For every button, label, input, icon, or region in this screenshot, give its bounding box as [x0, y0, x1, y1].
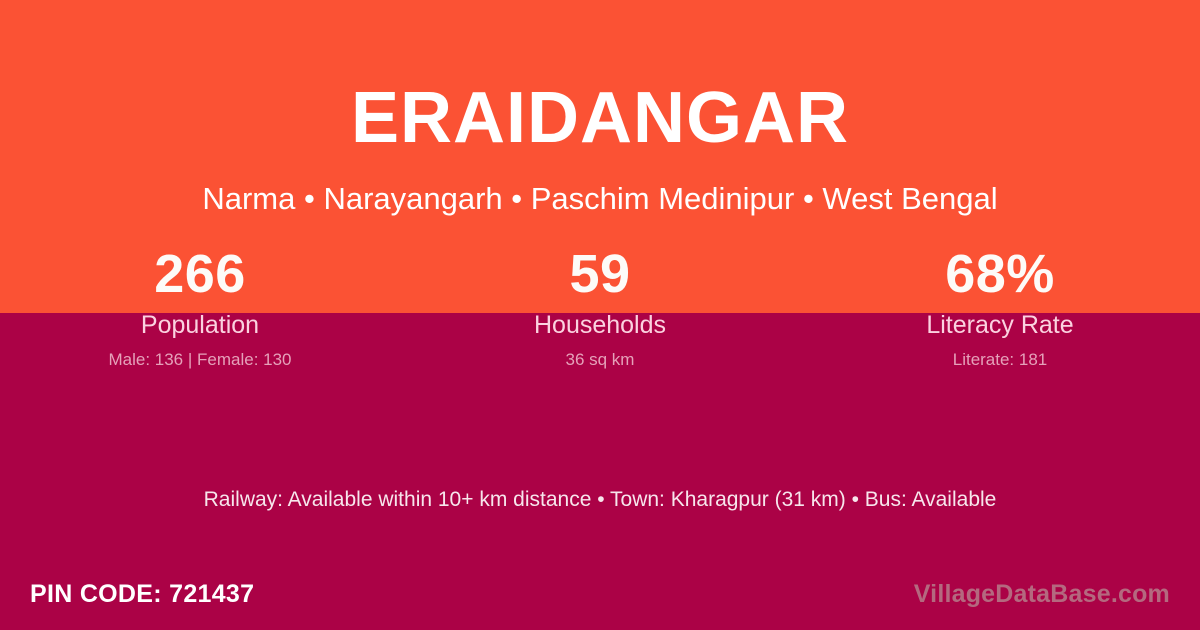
stats-row: 266 Population Male: 136 | Female: 130 5… [0, 243, 1200, 370]
site-brand: VillageDataBase.com [914, 579, 1170, 609]
stat-population-value: 266 [0, 243, 400, 305]
amenities-line: Railway: Available within 10+ km distanc… [0, 486, 1200, 513]
stat-population: 266 Population Male: 136 | Female: 130 [0, 243, 400, 370]
pin-code: PIN CODE: 721437 [30, 579, 254, 609]
page-title: ERAIDANGAR [0, 82, 1200, 154]
stat-literacy-value: 68% [800, 243, 1200, 305]
stat-population-sub: Male: 136 | Female: 130 [0, 350, 400, 370]
stat-population-label: Population [0, 310, 400, 340]
stat-literacy: 68% Literacy Rate Literate: 181 [800, 243, 1200, 370]
breadcrumb: Narma • Narayangarh • Paschim Medinipur … [0, 180, 1200, 219]
footer: PIN CODE: 721437 VillageDataBase.com [0, 558, 1200, 630]
village-info-card: ERAIDANGAR Narma • Narayangarh • Paschim… [0, 0, 1200, 630]
stat-households: 59 Households 36 sq km [400, 243, 800, 370]
stat-literacy-sub: Literate: 181 [800, 350, 1200, 370]
stat-households-sub: 36 sq km [400, 350, 800, 370]
stat-households-label: Households [400, 310, 800, 340]
stat-literacy-label: Literacy Rate [800, 310, 1200, 340]
stat-households-value: 59 [400, 243, 800, 305]
